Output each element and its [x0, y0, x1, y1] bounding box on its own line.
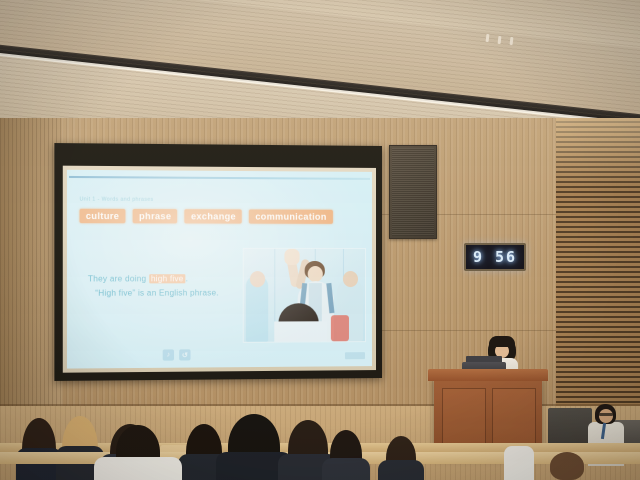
- vocab-tag-phrase: phrase: [133, 209, 178, 223]
- audience-member: [386, 436, 416, 480]
- audience-member: [228, 414, 280, 480]
- vocab-tag-exchange: exchange: [185, 209, 242, 223]
- vocabulary-tag-row: culture phrase exchange communication: [80, 209, 364, 224]
- slide-top-rule: [69, 176, 370, 180]
- projected-slide: Unit 1 - Words and phrases culture phras…: [67, 170, 372, 369]
- audience-member: [330, 430, 362, 480]
- vocab-tag-communication: communication: [249, 209, 332, 223]
- sentence-1-post: .: [186, 274, 189, 283]
- replay-icon: ↺: [179, 349, 190, 360]
- slide-sentence-1: They are doing high five.: [88, 272, 243, 286]
- audio-icon: ♪: [163, 349, 174, 360]
- audience-member: [22, 418, 56, 480]
- glasses-icon: [599, 413, 613, 416]
- audience-member: [504, 446, 534, 480]
- digital-wall-clock: 9 56: [464, 243, 526, 271]
- audience-member: [62, 416, 98, 480]
- sentence-1-pre: They are doing: [88, 274, 149, 283]
- wall-speaker: [389, 145, 437, 239]
- sentence-1-highlight: high five: [149, 274, 186, 283]
- clock-time-display: 9 56: [473, 248, 517, 266]
- slide-body-text: They are doing high five. “High five” is…: [88, 272, 243, 301]
- lecture-hall-photo: 9 56 Unit 1 - Words and phrases culture …: [0, 0, 640, 480]
- slide-sentence-2: “High five” is an English phrase.: [88, 286, 243, 301]
- projection-screen: Unit 1 - Words and phrases culture phras…: [54, 143, 382, 381]
- slide-toolbar: ♪ ↺: [163, 349, 191, 360]
- audience-member-foreground: [116, 425, 160, 480]
- slat-wall-highlight: [556, 118, 640, 188]
- audience-member: [550, 452, 584, 480]
- slide-subheading: Unit 1 - Words and phrases: [80, 196, 154, 202]
- vocab-tag-culture: culture: [80, 209, 126, 223]
- slide-corner-badge: [345, 352, 365, 359]
- slide-photo-high-five: [243, 248, 366, 343]
